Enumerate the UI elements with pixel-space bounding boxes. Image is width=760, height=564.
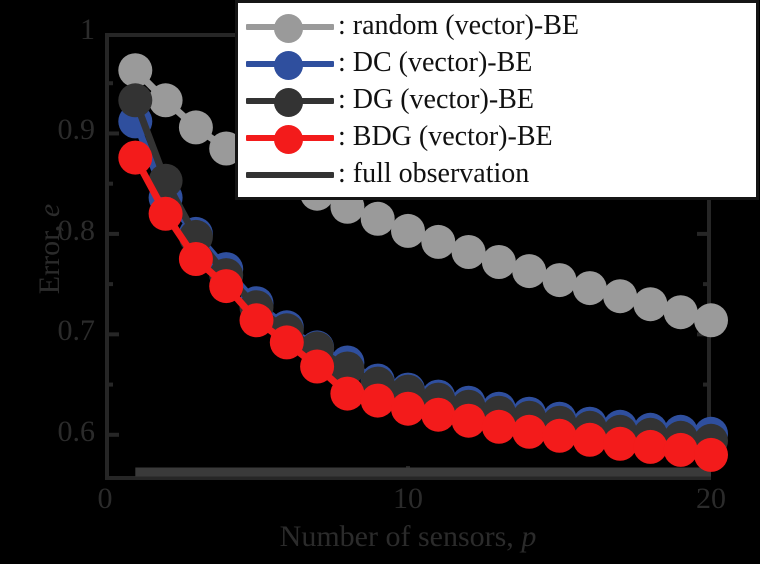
legend-item: : BDG (vector)-BE (244, 118, 748, 155)
y-tick-label: 1 (80, 15, 95, 45)
legend-item-label: : BDG (vector)-BE (336, 122, 553, 152)
x-tick-label: 20 (671, 484, 751, 514)
legend-line-icon (244, 159, 336, 189)
legend-item: : DC (vector)-BE (244, 44, 748, 81)
legend-line-marker-icon (244, 48, 336, 78)
y-axis-title: Error, e (33, 139, 67, 359)
x-tick-label: 10 (368, 484, 448, 514)
legend-marker-dot (274, 51, 303, 80)
legend-line-marker-icon (244, 85, 336, 115)
legend-item: : full observation (244, 155, 748, 192)
y-tick-label: 0.6 (58, 417, 96, 447)
legend-marker-dot (274, 125, 303, 154)
legend-item-label: : DG (vector)-BE (336, 85, 534, 115)
legend: : random (vector)-BE: DC (vector)-BE: DG… (235, 0, 759, 200)
legend-item-label: : random (vector)-BE (336, 11, 579, 41)
legend-marker-dot (274, 14, 303, 43)
legend-item: : DG (vector)-BE (244, 81, 748, 118)
legend-item-label: : full observation (336, 159, 529, 189)
x-axis-title: Number of sensors, p (105, 520, 711, 554)
legend-line-marker-icon (244, 122, 336, 152)
legend-item: : random (vector)-BE (244, 7, 748, 44)
legend-item-label: : DC (vector)-BE (336, 48, 532, 78)
legend-line-marker-icon (244, 11, 336, 41)
x-tick-label: 0 (65, 484, 145, 514)
legend-marker-dot (274, 88, 303, 117)
chart-root: 0.60.70.80.91 01020 Error, e Number of s… (0, 0, 760, 564)
